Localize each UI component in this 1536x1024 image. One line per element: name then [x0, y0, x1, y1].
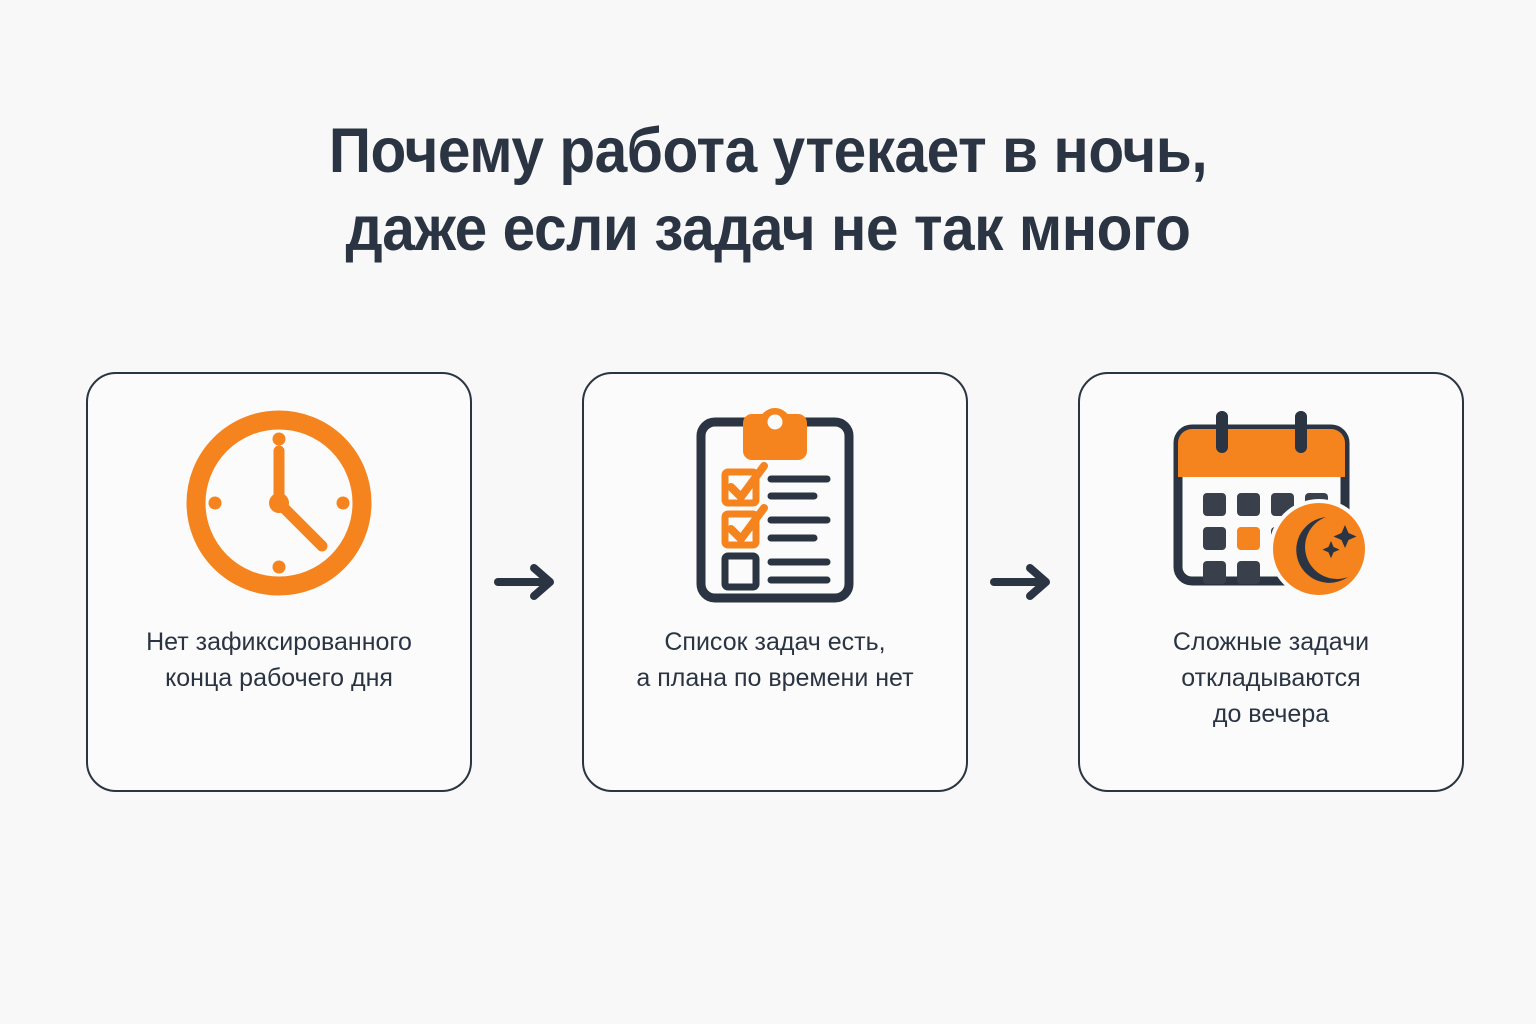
- infographic-slide: Почему работа утекает в ночь, даже если …: [0, 0, 1536, 1024]
- card-icon-wrapper: [584, 374, 966, 624]
- card-icon-wrapper: [1080, 374, 1462, 624]
- connector-arrow-2: [973, 372, 1073, 792]
- clipboard-checklist-icon: [675, 396, 875, 611]
- title-line-1: Почему работа утекает в ночь,: [54, 112, 1482, 190]
- card-hard-tasks-postponed[interactable]: Сложные задачи откладываются до вечера: [1078, 372, 1464, 792]
- card-task-list-no-time-plan[interactable]: Список задач есть, а плана по времени не…: [582, 372, 968, 792]
- clock-icon: [179, 403, 379, 603]
- arrow-right-icon: [988, 561, 1058, 603]
- card-no-fixed-end[interactable]: Нет зафиксированного конца рабочего дня: [86, 372, 472, 792]
- card-icon-wrapper: [88, 374, 470, 624]
- card-label: Список задач есть, а плана по времени не…: [584, 624, 966, 790]
- card-label: Нет зафиксированного конца рабочего дня: [88, 624, 470, 790]
- title-line-2: даже если задач не так много: [54, 190, 1482, 268]
- page-title: Почему работа утекает в ночь, даже если …: [0, 112, 1536, 268]
- calendar-moon-icon: [1164, 401, 1379, 606]
- card-label: Сложные задачи откладываются до вечера: [1080, 624, 1462, 790]
- arrow-right-icon: [492, 561, 562, 603]
- connector-arrow-1: [477, 372, 577, 792]
- cards-row: Нет зафиксированного конца рабочего дня: [86, 372, 1464, 792]
